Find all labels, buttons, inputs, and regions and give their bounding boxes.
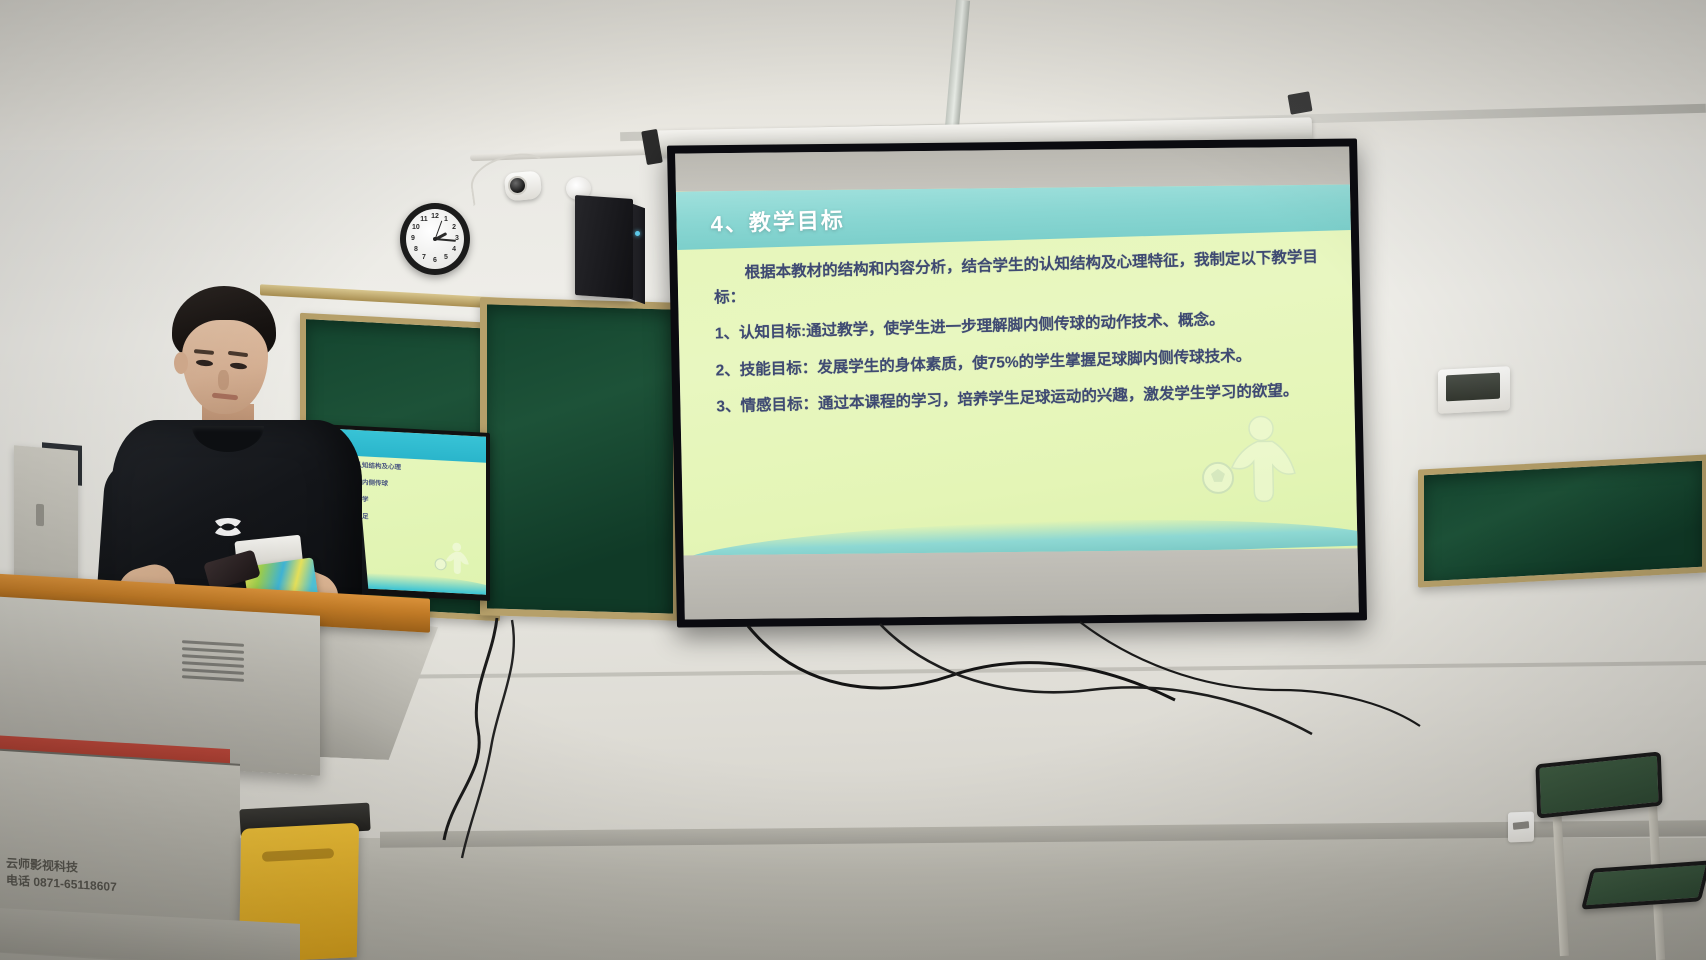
clock-center-pin xyxy=(433,237,437,241)
projection-screen: 4、教学目标 根据本教材的结构和内容分析，结合学生的认知结构及心理特征，我制定以… xyxy=(667,138,1367,627)
clock-numeral: 5 xyxy=(441,254,451,261)
clock-numeral: 6 xyxy=(430,257,440,264)
clock-numeral: 8 xyxy=(411,246,421,253)
vent-slot xyxy=(182,647,244,654)
under-armour-logo-icon xyxy=(212,516,244,538)
soccer-player-silhouette-icon xyxy=(1199,415,1321,508)
control-panel-display xyxy=(1446,373,1500,402)
clock-minute-hand xyxy=(435,238,456,242)
clock-numeral: 12 xyxy=(430,213,440,220)
vent-slot xyxy=(182,668,244,675)
clock-face: 121234567891011 xyxy=(406,209,464,269)
presenter-nose xyxy=(218,370,229,390)
clock-numeral: 4 xyxy=(449,246,459,253)
screen-surface: 4、教学目标 根据本教材的结构和内容分析，结合学生的认知结构及心理特征，我制定以… xyxy=(675,147,1359,620)
slide-title: 4、教学目标 xyxy=(710,203,845,239)
clock-numeral: 10 xyxy=(411,224,421,231)
clock-numeral: 11 xyxy=(419,216,429,223)
podium-speaker-vent xyxy=(182,638,244,686)
wall-speaker xyxy=(575,195,633,299)
slide-bullet-1: 1、认知目标:通过教学，使学生进一步理解脚内侧传球的动作技术、概念。 xyxy=(715,305,1329,346)
screen-housing-endcap-right xyxy=(1287,91,1312,115)
cabinet-handle[interactable] xyxy=(36,504,44,527)
slide-bullet-2: 2、技能目标：发展学生的身体素质，使75%的学生掌握足球脚内侧传球技术。 xyxy=(715,342,1329,383)
slide-bullet-3: 3、情感目标：通过本课程的学习，培养学生足球运动的兴趣，激发学生学习的欲望。 xyxy=(716,379,1330,420)
vent-slot xyxy=(182,661,244,668)
camera-lens-icon xyxy=(508,176,527,195)
clock-numeral: 9 xyxy=(408,235,418,242)
vent-slot xyxy=(182,654,244,661)
vent-slot xyxy=(182,675,244,682)
wall-clock: 121234567891011 xyxy=(400,203,470,275)
blackboard-right xyxy=(1418,454,1706,587)
clock-numeral: 7 xyxy=(419,254,429,261)
presenter-ear xyxy=(174,352,188,374)
slide-body: 根据本教材的结构和内容分析，结合学生的认知结构及心理特征，我制定以下教学目标： … xyxy=(713,245,1330,432)
classroom-scene: 121234567891011 4、教学目标 根据本教材的结构和内容分析，结合学… xyxy=(0,0,1706,960)
presenter-face xyxy=(182,320,268,414)
presentation-slide: 4、教学目标 根据本教材的结构和内容分析，结合学生的认知结构及心理特征，我制定以… xyxy=(676,185,1358,556)
blackboard-middle xyxy=(480,297,680,621)
projection-letterbox-bottom xyxy=(684,548,1359,619)
slide-intro-paragraph: 根据本教材的结构和内容分析，结合学生的认知结构及心理特征，我制定以下教学目标： xyxy=(713,245,1328,309)
clock-numeral: 1 xyxy=(441,216,451,223)
clock-numeral: 2 xyxy=(449,224,459,231)
vent-slot xyxy=(182,640,244,647)
speaker-led-icon xyxy=(635,231,640,236)
aux-soccer-player-icon xyxy=(434,540,478,578)
